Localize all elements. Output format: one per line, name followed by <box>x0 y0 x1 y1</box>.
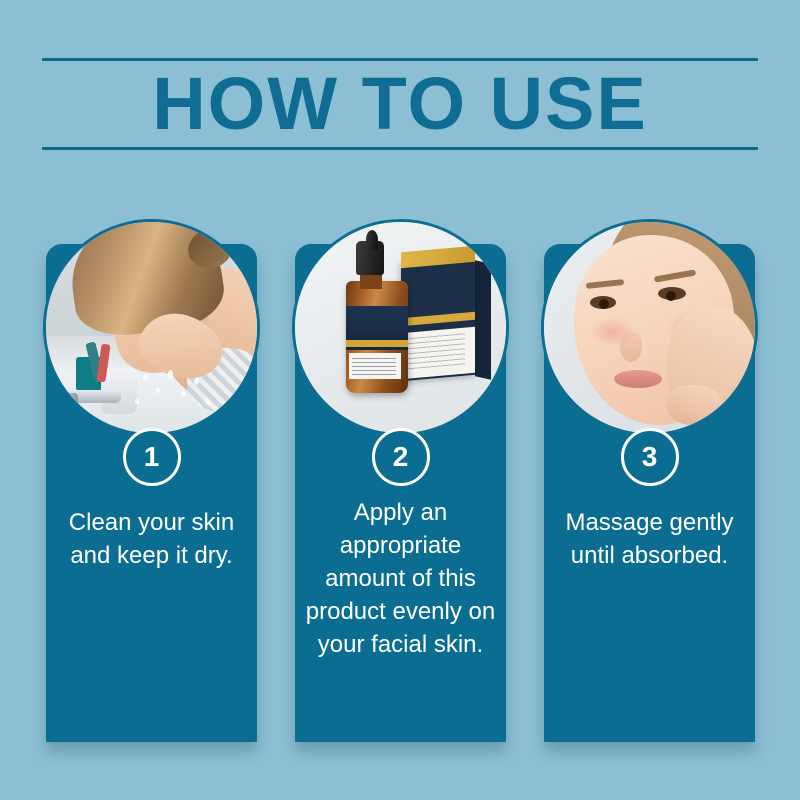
steps-row: 1 Clean your skin and keep it dry. <box>0 222 800 742</box>
step-card-2[interactable]: 2 Apply an appropriate amount of this pr… <box>295 244 506 742</box>
poster-header: HOW TO USE <box>0 0 800 200</box>
step-3-caption: Massage gently until absorbed. <box>552 506 747 572</box>
washing-face-image <box>46 222 257 433</box>
step-card-1[interactable]: 1 Clean your skin and keep it dry. <box>46 244 257 742</box>
title-rule-top <box>42 58 758 61</box>
page-title: HOW TO USE <box>0 62 800 146</box>
title-rule-bottom <box>42 147 758 150</box>
step-3-number-badge: 3 <box>621 428 679 486</box>
serum-product-image <box>295 222 506 433</box>
step-1-caption: Clean your skin and keep it dry. <box>54 506 249 572</box>
step-2-photo <box>295 222 506 433</box>
how-to-use-poster: HOW TO USE <box>0 0 800 800</box>
step-1-photo <box>46 222 257 433</box>
face-closeup-image <box>544 222 755 433</box>
step-2-caption: Apply an appropriate amount of this prod… <box>299 496 502 661</box>
step-2-number-badge: 2 <box>372 428 430 486</box>
step-3-photo <box>544 222 755 433</box>
step-card-3[interactable]: 3 Massage gently until absorbed. <box>544 244 755 742</box>
step-1-number-badge: 1 <box>123 428 181 486</box>
